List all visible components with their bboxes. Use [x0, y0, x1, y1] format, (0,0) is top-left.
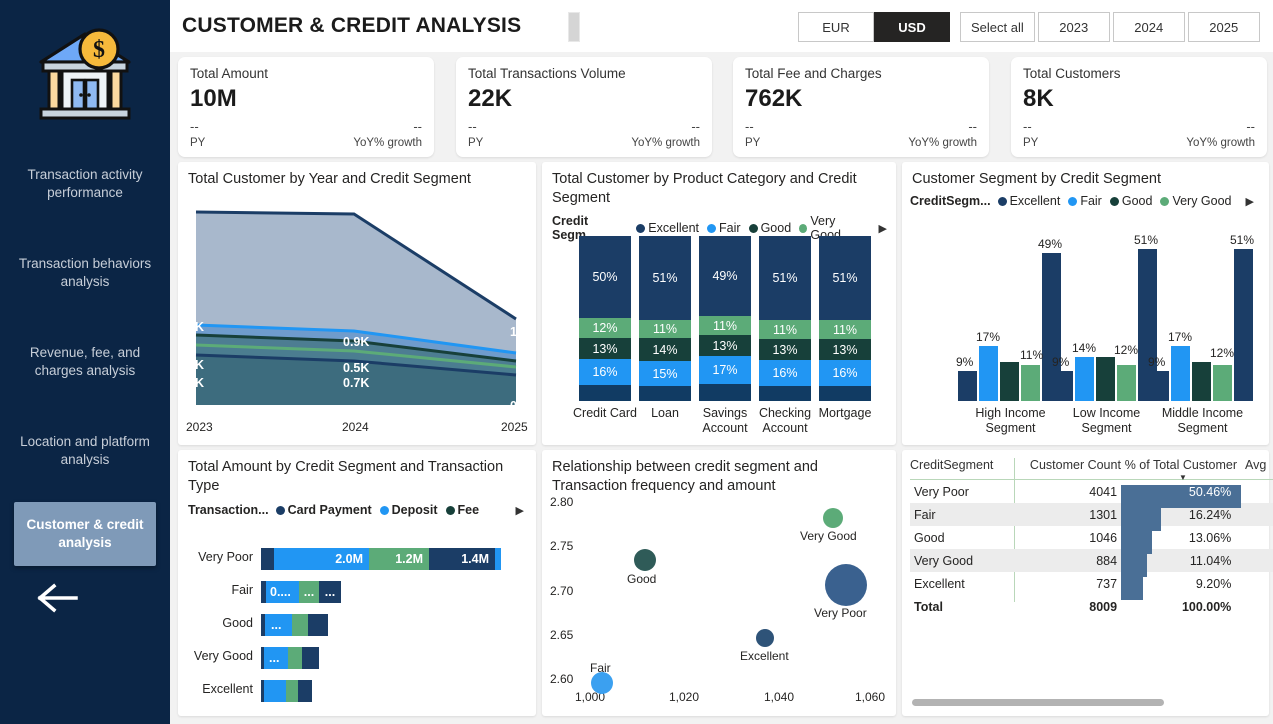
stacked-category-label: Credit Card: [573, 401, 637, 421]
cell-total-pct: 100.00%: [1121, 600, 1237, 614]
scatter-xtick-1060: 1,060: [855, 690, 885, 704]
kpi-card-total-amount[interactable]: Total Amount 10M -- PY -- YoY% growth: [178, 57, 434, 157]
mini-slicer-handle[interactable]: [568, 12, 580, 42]
cell-total-count: 8009: [1003, 600, 1121, 614]
stacked-category-label: Checking Account: [753, 401, 817, 436]
bar-excellent: [1234, 249, 1253, 401]
legend-item-fair[interactable]: Fair: [1068, 194, 1102, 208]
segment-excellent: 50%: [579, 236, 631, 318]
segment-excellent: 51%: [759, 236, 811, 320]
legend-field-label: CreditSegm...: [910, 194, 991, 208]
kpi-py-value: --: [1023, 119, 1032, 134]
legend-next-icon[interactable]: ▶: [879, 222, 887, 235]
kpi-card-total-transactions-volume[interactable]: Total Transactions Volume 22K -- PY -- Y…: [456, 57, 712, 157]
data-bar: [1121, 508, 1161, 531]
svg-text:$: $: [93, 37, 105, 63]
segment-very-poor: [819, 386, 871, 401]
barlabel-good: 12%: [1210, 346, 1234, 360]
currency-option-usd[interactable]: USD: [874, 12, 950, 42]
area-chart-panel[interactable]: Total Customer by Year and Credit Segmen…: [178, 162, 536, 445]
kpi-card-total-customers[interactable]: Total Customers 8K -- PY -- YoY% growth: [1011, 57, 1267, 157]
kpi-yoy-label: YoY% growth: [353, 137, 422, 149]
stacked-category-label: Mortgage: [813, 401, 877, 421]
year-option-2024[interactable]: 2024: [1113, 12, 1185, 42]
area-label-2024-low: 0.7K: [343, 376, 369, 390]
kpi-card-total-fee-and-charges[interactable]: Total Fee and Charges 762K -- PY -- YoY%…: [733, 57, 989, 157]
year-option-2025[interactable]: 2025: [1188, 12, 1260, 42]
legend-item-excellent[interactable]: Excellent: [998, 194, 1061, 208]
segment-fair: 17%: [699, 356, 751, 384]
hseg-fee: ...: [299, 581, 319, 603]
hseg-withdrawal: [302, 647, 319, 669]
currency-slicer: EUR USD: [798, 12, 950, 42]
segment-very-good: 11%: [819, 320, 871, 339]
clustered-bar-panel[interactable]: Customer Segment by Credit Segment Credi…: [902, 162, 1269, 445]
hbar-row-excellent[interactable]: Excellent: [261, 680, 309, 702]
hseg-other: [495, 548, 501, 570]
area-label-2023-low: 5K: [188, 376, 204, 390]
area-xtick-2024: 2024: [342, 420, 369, 434]
data-bar: [1121, 554, 1147, 577]
hbar-category-label: Very Good: [194, 649, 261, 663]
bubble-fair[interactable]: [591, 672, 613, 694]
year-slicer: Select all 2023 2024 2025: [960, 12, 1263, 42]
legend-dot-excellent: [636, 224, 645, 233]
area-chart-title: Total Customer by Year and Credit Segmen…: [188, 170, 526, 189]
segment-very-poor: [699, 384, 751, 401]
kpi-title: Total Customers: [1023, 66, 1121, 81]
bar-fair: [1075, 357, 1094, 401]
cell-pct: 9.20%: [1121, 577, 1237, 591]
cluster-chart-title: Customer Segment by Credit Segment: [912, 170, 1259, 189]
legend-item-fee[interactable]: Fee: [446, 503, 480, 517]
segment-very-poor: [579, 385, 631, 401]
sidebar-item-transaction-behaviors[interactable]: Transaction behaviors analysis: [14, 249, 156, 297]
sidebar-item-label: Revenue, fee, and charges analysis: [30, 345, 140, 378]
legend-dot-good: [1110, 197, 1119, 206]
bar-very-poor: [1150, 371, 1169, 401]
cell-credit-segment: Very Poor: [910, 485, 1003, 499]
currency-option-eur[interactable]: EUR: [798, 12, 874, 42]
hseg-fee: [286, 680, 298, 702]
legend-next-icon[interactable]: ▶: [516, 504, 524, 517]
sidebar-item-label: Transaction behaviors analysis: [19, 256, 151, 289]
segment-fair: 15%: [639, 361, 691, 386]
cell-credit-segment: Excellent: [910, 577, 1003, 591]
column-header-avg[interactable]: Avg: [1237, 458, 1273, 472]
bubble-very-poor[interactable]: [825, 564, 867, 606]
cluster-category-label: Low Income Segment: [1054, 401, 1159, 436]
hseg-deposit: 2.0M: [274, 548, 369, 570]
legend-label-very-good: Very Good: [1172, 194, 1231, 208]
legend-dot-fee: [446, 506, 455, 515]
bubble-excellent[interactable]: [756, 629, 774, 647]
cell-total-label: Total: [910, 600, 1003, 614]
hseg-deposit: ...: [265, 614, 292, 636]
bar-good: [1192, 362, 1211, 401]
hbar-row-fair[interactable]: Fair 0.... ... ...: [261, 581, 336, 603]
bar-very-poor: [1054, 371, 1073, 401]
table-row[interactable]: Very Good 884 11.04%: [910, 549, 1273, 572]
area-label-2023-mid: 7K: [188, 358, 204, 372]
segment-good: 14%: [639, 338, 691, 361]
kpi-title: Total Transactions Volume: [468, 66, 626, 81]
hbar-chart-title: Total Amount by Credit Segment and Trans…: [188, 458, 526, 496]
scatter-panel[interactable]: Relationship between credit segment and …: [542, 450, 896, 716]
area-label-2025-mid: 0.4: [510, 399, 527, 413]
stacked-category-label: Savings Account: [693, 401, 757, 436]
table-horizontal-scrollbar[interactable]: [912, 699, 1164, 706]
stacked-chart-title: Total Customer by Product Category and C…: [552, 170, 886, 208]
kpi-py-label: PY: [468, 137, 483, 149]
hbar-row-very-good[interactable]: Very Good ...: [261, 647, 316, 669]
bar-very-poor: [958, 371, 977, 401]
hseg-card-payment: [261, 548, 274, 570]
kpi-py-value: --: [745, 119, 754, 134]
back-arrow-icon[interactable]: [32, 578, 80, 618]
table-row[interactable]: Excellent 737 9.20%: [910, 572, 1273, 595]
barlabel-excellent: 51%: [1230, 233, 1254, 247]
page-title: CUSTOMER & CREDIT ANALYSIS: [182, 14, 521, 38]
cell-credit-segment: Fair: [910, 508, 1003, 522]
kpi-yoy-label: YoY% growth: [1186, 137, 1255, 149]
kpi-value: 22K: [468, 85, 512, 113]
legend-item-good[interactable]: Good: [1110, 194, 1153, 208]
legend-dot-card-payment: [276, 506, 285, 515]
cluster-group-middle-income[interactable]: 9% 17% 12% 51% Middle Income Segment: [1150, 221, 1255, 401]
sidebar-item-location-platform[interactable]: Location and platform analysis: [14, 427, 156, 475]
stacked-column-savings-account[interactable]: 49% 11% 13% 17% Savings Account: [699, 236, 751, 401]
area-xtick-2025: 2025: [501, 420, 528, 434]
kpi-py-label: PY: [190, 137, 205, 149]
legend-item-good[interactable]: Good: [749, 221, 792, 235]
barlabel-very-poor: 9%: [1052, 355, 1069, 369]
area-xtick-2023: 2023: [186, 420, 213, 434]
scatter-xtick-1040: 1,040: [764, 690, 794, 704]
hseg-fee: [288, 647, 302, 669]
kpi-title: Total Fee and Charges: [745, 66, 882, 81]
legend-label-excellent: Excellent: [648, 221, 699, 235]
kpi-yoy-label: YoY% growth: [908, 137, 977, 149]
bubble-label-very-poor: Very Poor: [814, 606, 867, 620]
credit-segment-table: CreditSegment Customer Count % of Total …: [910, 458, 1273, 618]
cell-pct-text: 9.20%: [1196, 577, 1231, 591]
barlabel-fair: 14%: [1072, 341, 1096, 355]
bar-very-good: [1117, 365, 1136, 401]
segment-very-good: 12%: [579, 318, 631, 338]
stacked-column-loan[interactable]: 51% 11% 14% 15% Loan: [639, 236, 691, 401]
legend-label-fee: Fee: [458, 503, 480, 517]
barlabel-good: 12%: [1114, 343, 1138, 357]
segment-fair: 16%: [759, 360, 811, 386]
cell-pct-text: 50.46%: [1189, 485, 1231, 499]
segment-excellent: 49%: [699, 236, 751, 316]
stacked-column-checking-account[interactable]: 51% 11% 13% 16% Checking Account: [759, 236, 811, 401]
data-bar: [1121, 577, 1143, 600]
barlabel-very-poor: 9%: [1148, 355, 1165, 369]
scatter-xtick-1020: 1,020: [669, 690, 699, 704]
legend-dot-very-good: [1160, 197, 1169, 206]
legend-dot-fair: [1068, 197, 1077, 206]
legend-dot-excellent: [998, 197, 1007, 206]
sidebar-item-customer-credit[interactable]: Customer & credit analysis: [14, 502, 156, 566]
hseg-deposit: 0....: [266, 581, 299, 603]
scatter-ytick-280: 2.80: [550, 495, 573, 509]
kpi-value: 762K: [745, 85, 802, 113]
legend-next-icon[interactable]: ▶: [1246, 195, 1254, 208]
kpi-py-value: --: [468, 119, 477, 134]
hbar-category-label: Fair: [231, 583, 261, 597]
legend-label-fair: Fair: [719, 221, 741, 235]
kpi-yoy-value: --: [1246, 119, 1255, 134]
cell-pct: 11.04%: [1121, 554, 1237, 568]
legend-label-good: Good: [1122, 194, 1153, 208]
sidebar: $ Transaction activity performance Trans…: [0, 0, 170, 724]
bar-good: [1000, 362, 1019, 401]
hbar-category-label: Very Poor: [198, 550, 261, 564]
cluster-category-label: High Income Segment: [958, 401, 1063, 436]
bubble-very-good[interactable]: [823, 508, 843, 528]
cell-customer-count: 1301: [1003, 508, 1121, 522]
legend-label-fair: Fair: [1080, 194, 1102, 208]
segment-fair: 16%: [579, 359, 631, 385]
segment-fair: 16%: [819, 360, 871, 386]
hbar-row-very-poor[interactable]: Very Poor 2.0M 1.2M 1.4M: [261, 548, 497, 570]
legend-item-excellent[interactable]: Excellent: [636, 221, 699, 235]
stacked-column-mortgage[interactable]: 51% 11% 13% 16% Mortgage: [819, 236, 871, 401]
table-row[interactable]: Very Poor 4041 50.46%: [910, 480, 1273, 503]
hbar-panel[interactable]: Total Amount by Credit Segment and Trans…: [178, 450, 536, 716]
cell-customer-count: 737: [1003, 577, 1121, 591]
kpi-py-label: PY: [1023, 137, 1038, 149]
segment-very-poor: [639, 386, 691, 401]
hseg-fee: [292, 614, 308, 636]
cell-credit-segment: Good: [910, 531, 1003, 545]
stacked-category-label: Loan: [633, 401, 697, 421]
scatter-ytick-270: 2.70: [550, 584, 573, 598]
year-option-select-all[interactable]: Select all: [960, 12, 1035, 42]
legend-dot-very-good: [799, 224, 807, 233]
scatter-ytick-275: 2.75: [550, 539, 573, 553]
legend-item-deposit[interactable]: Deposit: [380, 503, 438, 517]
scatter-ytick-260: 2.60: [550, 672, 573, 686]
segment-good: 13%: [579, 338, 631, 359]
hseg-withdrawal: 1.4M: [429, 548, 495, 570]
segment-very-poor: [759, 386, 811, 401]
bubble-label-good: Good: [627, 572, 656, 586]
sidebar-item-label: Transaction activity performance: [27, 167, 142, 200]
legend-item-card-payment[interactable]: Card Payment: [276, 503, 372, 517]
segment-very-good: 11%: [699, 316, 751, 335]
column-header-pct-of-total-customer[interactable]: % of Total Customer ▼: [1121, 458, 1237, 472]
segment-excellent: 51%: [639, 236, 691, 320]
hbar-row-good[interactable]: Good ...: [261, 614, 323, 636]
bubble-label-excellent: Excellent: [740, 649, 789, 663]
hseg-withdrawal: [298, 680, 312, 702]
area-label-2025-top: 1.4: [510, 325, 527, 339]
hbar-category-label: Excellent: [202, 682, 261, 696]
data-bar: [1121, 531, 1152, 554]
kpi-yoy-value: --: [691, 119, 700, 134]
table-total-row: Total 8009 100.00%: [910, 595, 1273, 618]
legend-item-very-good[interactable]: Very Good: [1160, 194, 1231, 208]
area-label-2023-top: 9K: [188, 320, 204, 334]
area-label-2024-top: 0.9K: [343, 335, 369, 349]
hseg-withdrawal: [308, 614, 328, 636]
segment-very-good: 11%: [639, 320, 691, 338]
legend-label-excellent: Excellent: [1010, 194, 1061, 208]
scatter-ytick-265: 2.65: [550, 628, 573, 642]
hbar-chart-legend: Transaction... Card Payment Deposit Fee …: [188, 503, 528, 517]
segment-good: 13%: [699, 335, 751, 356]
bar-fair: [979, 346, 998, 401]
top-bar: CUSTOMER & CREDIT ANALYSIS EUR USD Selec…: [170, 0, 1273, 52]
legend-label-good: Good: [761, 221, 792, 235]
kpi-value: 10M: [190, 85, 237, 113]
legend-dot-fair: [707, 224, 716, 233]
legend-dot-good: [749, 224, 758, 233]
cell-credit-segment: Very Good: [910, 554, 1003, 568]
segment-good: 13%: [759, 339, 811, 360]
legend-label-card-payment: Card Payment: [288, 503, 372, 517]
column-header-credit-segment[interactable]: CreditSegment: [910, 458, 1003, 472]
table-panel[interactable]: CreditSegment Customer Count % of Total …: [902, 450, 1269, 716]
cell-pct: 16.24%: [1121, 508, 1237, 522]
cluster-chart-legend: CreditSegm... Excellent Fair Good Very G…: [910, 194, 1262, 208]
bubble-label-very-good: Very Good: [800, 529, 857, 543]
bank-dollar-icon: $: [0, 18, 170, 138]
segment-excellent: 51%: [819, 236, 871, 320]
cell-pct: 13.06%: [1121, 531, 1237, 545]
sidebar-item-transaction-activity[interactable]: Transaction activity performance: [14, 160, 156, 208]
cell-pct-text: 11.04%: [1190, 554, 1231, 568]
sidebar-item-revenue-fee-charges[interactable]: Revenue, fee, and charges analysis: [14, 338, 156, 386]
segment-very-good: 11%: [759, 320, 811, 339]
legend-label-deposit: Deposit: [392, 503, 438, 517]
hbar-category-label: Good: [222, 616, 261, 630]
kpi-yoy-label: YoY% growth: [631, 137, 700, 149]
sidebar-item-label: Customer & credit analysis: [26, 517, 143, 550]
sidebar-item-label: Location and platform analysis: [20, 434, 150, 467]
year-option-2023[interactable]: 2023: [1038, 12, 1110, 42]
cell-pct: 50.46%: [1121, 485, 1237, 499]
dashboard-root: $ Transaction activity performance Trans…: [0, 0, 1273, 724]
kpi-yoy-value: --: [968, 119, 977, 134]
barlabel-fair: 17%: [976, 330, 1000, 344]
hseg-withdrawal: ...: [319, 581, 341, 603]
area-label-2024-mid: 0.5K: [343, 361, 369, 375]
bubble-good[interactable]: [634, 549, 656, 571]
barlabel-fair: 17%: [1168, 330, 1192, 344]
kpi-py-label: PY: [745, 137, 760, 149]
legend-field-label: Transaction...: [188, 503, 269, 517]
stacked-column-credit-card[interactable]: 50% 12% 13% 16% Credit Card: [579, 236, 631, 401]
cell-pct-text: 13.06%: [1189, 531, 1231, 545]
cluster-group-high-income[interactable]: 9% 17% 11% 49% High Income Segment: [958, 221, 1063, 401]
bar-good: [1096, 357, 1115, 401]
column-header-label: % of Total Customer: [1125, 458, 1237, 472]
cluster-category-label: Middle Income Segment: [1150, 401, 1255, 436]
hseg-deposit: [264, 680, 286, 702]
kpi-py-value: --: [190, 119, 199, 134]
cell-customer-count: 884: [1003, 554, 1121, 568]
segment-good: 13%: [819, 339, 871, 360]
bar-very-good: [1021, 365, 1040, 401]
legend-dot-deposit: [380, 506, 389, 515]
cluster-group-low-income[interactable]: 9% 14% 12% 51% Low Income Segment: [1054, 221, 1159, 401]
barlabel-very-poor: 9%: [956, 355, 973, 369]
cell-pct-text: 16.24%: [1189, 508, 1231, 522]
kpi-yoy-value: --: [413, 119, 422, 134]
hseg-fee: 1.2M: [369, 548, 429, 570]
hseg-deposit: ...: [264, 647, 288, 669]
cell-customer-count: 4041: [1003, 485, 1121, 499]
column-header-customer-count[interactable]: Customer Count: [1003, 458, 1121, 472]
bubble-label-fair: Fair: [590, 661, 611, 675]
table-row[interactable]: Good 1046 13.06%: [910, 526, 1273, 549]
scatter-chart-title: Relationship between credit segment and …: [552, 458, 886, 496]
bar-fair: [1171, 346, 1190, 401]
bar-very-good: [1213, 365, 1232, 401]
stacked-column-panel[interactable]: Total Customer by Product Category and C…: [542, 162, 896, 445]
kpi-value: 8K: [1023, 85, 1054, 113]
legend-item-fair[interactable]: Fair: [707, 221, 741, 235]
table-header-row: CreditSegment Customer Count % of Total …: [910, 458, 1273, 480]
barlabel-good: 11%: [1020, 348, 1043, 362]
cell-customer-count: 1046: [1003, 531, 1121, 545]
kpi-title: Total Amount: [190, 66, 268, 81]
